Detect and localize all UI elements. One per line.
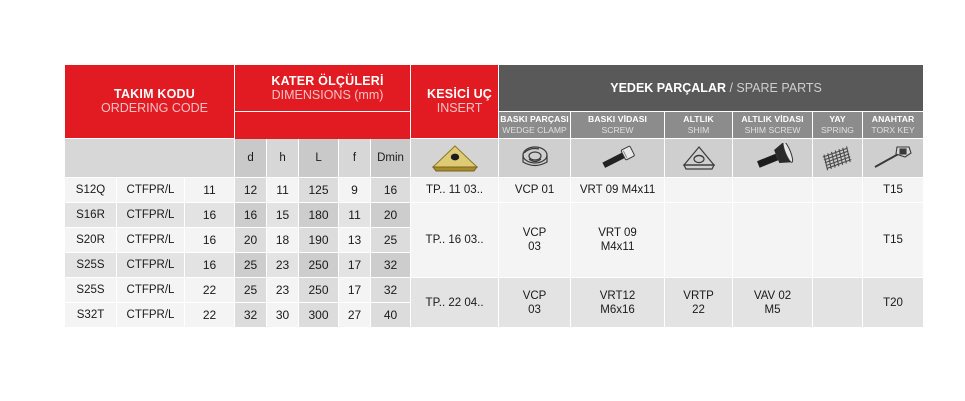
- cell-f: 13: [339, 228, 371, 253]
- cell-h: 15: [267, 203, 299, 228]
- spring-icon: [817, 144, 859, 172]
- cell-wedge-clamp: VCP03: [499, 203, 571, 278]
- cell-screw: VRT 09M4x11: [571, 203, 665, 278]
- shim-icon-cell: [665, 139, 733, 178]
- header-screw: BASKI VİDASI SCREW: [571, 112, 665, 139]
- cell-L: 125: [299, 178, 339, 203]
- torx-key-icon: [869, 143, 917, 173]
- cell-series: CTFPR/L: [117, 178, 185, 203]
- master-header-row: TAKIM KODU ORDERING CODE KATER ÖLÇÜLERİ …: [65, 65, 924, 112]
- screw-icon-cell: [571, 139, 665, 178]
- cell-series: CTFPR/L: [117, 228, 185, 253]
- header-shim: ALTLIK SHIM: [665, 112, 733, 139]
- cell-dmin: 20: [371, 203, 411, 228]
- cell-torx-key: T15: [863, 203, 924, 278]
- cell-dmin: 40: [371, 303, 411, 328]
- header-shim-en: SHIM: [666, 125, 731, 136]
- cell-size: 22: [185, 278, 235, 303]
- cell-dmin: 32: [371, 278, 411, 303]
- cell-d: 12: [235, 178, 267, 203]
- header-ordering-code-en: ORDERING CODE: [75, 101, 234, 116]
- cell-code: S16R: [65, 203, 117, 228]
- cell-series: CTFPR/L: [117, 203, 185, 228]
- ordering-code-spacer: [65, 139, 235, 178]
- header-spare-parts-en: SPARE PARTS: [736, 81, 821, 95]
- cell-insert: TP.. 11 03..: [411, 178, 499, 203]
- table-row: S16R CTFPR/L 16 16 15 180 11 20 TP.. 16 …: [65, 203, 924, 228]
- header-screw-en: SCREW: [572, 125, 663, 136]
- cell-shim-screw: VAV 02M5: [733, 278, 813, 328]
- header-wedge-clamp-en: WEDGE CLAMP: [500, 125, 569, 136]
- cell-spring: [813, 203, 863, 278]
- header-spare-parts: YEDEK PARÇALAR / SPARE PARTS: [499, 65, 924, 112]
- cell-d: 25: [235, 278, 267, 303]
- cell-spring: [813, 278, 863, 328]
- cell-shim-screw: [733, 178, 813, 203]
- header-spring: YAY SPRING: [813, 112, 863, 139]
- shim-icon: [679, 143, 719, 173]
- cell-size: 16: [185, 203, 235, 228]
- cell-code: S25S: [65, 278, 117, 303]
- dim-label-d: d: [235, 139, 267, 178]
- header-dimensions-filler: [235, 112, 411, 139]
- header-spring-tr: YAY: [814, 114, 861, 125]
- spring-icon-cell: [813, 139, 863, 178]
- catalog-page: TAKIM KODU ORDERING CODE KATER ÖLÇÜLERİ …: [0, 0, 965, 401]
- cell-dmin: 25: [371, 228, 411, 253]
- cell-wedge-clamp: VCP03: [499, 278, 571, 328]
- cell-f: 27: [339, 303, 371, 328]
- cell-insert: TP.. 22 04..: [411, 278, 499, 328]
- table-row: S12Q CTFPR/L 11 12 11 125 9 16 TP.. 11 0…: [65, 178, 924, 203]
- dim-label-f: f: [339, 139, 371, 178]
- header-spare-parts-tr: YEDEK PARÇALAR: [610, 81, 726, 95]
- cell-size: 16: [185, 253, 235, 278]
- cell-shim-screw: [733, 203, 813, 278]
- cell-d: 20: [235, 228, 267, 253]
- dimension-letter-row: d h L f Dmin: [65, 139, 924, 178]
- cell-torx-key: T20: [863, 278, 924, 328]
- header-ordering-code: TAKIM KODU ORDERING CODE: [65, 65, 235, 139]
- header-insert-en: INSERT: [421, 101, 498, 116]
- cell-series: CTFPR/L: [117, 253, 185, 278]
- cell-h: 11: [267, 178, 299, 203]
- header-dimensions-tr: KATER ÖLÇÜLERİ: [245, 74, 410, 88]
- cell-L: 300: [299, 303, 339, 328]
- wedge-clamp-icon: [515, 143, 555, 173]
- cell-L: 190: [299, 228, 339, 253]
- header-shim-screw: ALTLIK VİDASI SHIM SCREW: [733, 112, 813, 139]
- table-row: S25S CTFPR/L 22 25 23 250 17 32 TP.. 22 …: [65, 278, 924, 303]
- header-torx-key-tr: ANAHTAR: [864, 114, 922, 125]
- cell-code: S12Q: [65, 178, 117, 203]
- header-spring-en: SPRING: [814, 125, 861, 136]
- cell-f: 17: [339, 253, 371, 278]
- cell-h: 30: [267, 303, 299, 328]
- header-ordering-code-tr: TAKIM KODU: [75, 87, 234, 101]
- cell-series: CTFPR/L: [117, 278, 185, 303]
- screw-icon: [594, 143, 642, 173]
- cell-d: 32: [235, 303, 267, 328]
- header-shim-screw-en: SHIM SCREW: [734, 125, 811, 136]
- cell-f: 11: [339, 203, 371, 228]
- header-shim-tr: ALTLIK: [666, 114, 731, 125]
- torx-key-icon-cell: [863, 139, 924, 178]
- dim-label-h: h: [267, 139, 299, 178]
- cell-code: S20R: [65, 228, 117, 253]
- cell-shim: VRTP22: [665, 278, 733, 328]
- cell-h: 18: [267, 228, 299, 253]
- header-torx-key: ANAHTAR TORX KEY: [863, 112, 924, 139]
- header-torx-key-en: TORX KEY: [864, 125, 922, 136]
- shim-screw-icon: [749, 143, 797, 173]
- cell-insert: TP.. 16 03..: [411, 203, 499, 278]
- cell-series: CTFPR/L: [117, 303, 185, 328]
- cell-f: 9: [339, 178, 371, 203]
- cell-size: 11: [185, 178, 235, 203]
- cell-dmin: 16: [371, 178, 411, 203]
- header-wedge-clamp-tr: BASKI PARÇASI: [500, 114, 569, 125]
- cell-size: 16: [185, 228, 235, 253]
- cell-d: 16: [235, 203, 267, 228]
- insert-icon-cell: [411, 139, 499, 178]
- cell-d: 25: [235, 253, 267, 278]
- tool-specification-table: TAKIM KODU ORDERING CODE KATER ÖLÇÜLERİ …: [64, 64, 924, 328]
- triangular-insert-icon: [429, 143, 481, 173]
- cell-code: S25S: [65, 253, 117, 278]
- cell-size: 22: [185, 303, 235, 328]
- header-insert-tr: KESİCİ UÇ: [421, 87, 498, 101]
- cell-L: 250: [299, 278, 339, 303]
- dim-label-Dmin: Dmin: [371, 139, 411, 178]
- header-insert: KESİCİ UÇ INSERT: [411, 65, 499, 139]
- shim-screw-icon-cell: [733, 139, 813, 178]
- cell-torx-key: T15: [863, 178, 924, 203]
- header-spare-parts-sep: /: [726, 81, 736, 95]
- cell-shim: [665, 203, 733, 278]
- header-dimensions-en: DIMENSIONS (mm): [245, 88, 410, 103]
- cell-spring: [813, 178, 863, 203]
- wedge-clamp-icon-cell: [499, 139, 571, 178]
- header-shim-screw-tr: ALTLIK VİDASI: [734, 114, 811, 125]
- cell-L: 250: [299, 253, 339, 278]
- cell-screw: VRT12M6x16: [571, 278, 665, 328]
- cell-h: 23: [267, 253, 299, 278]
- header-dimensions: KATER ÖLÇÜLERİ DIMENSIONS (mm): [235, 65, 411, 112]
- cell-dmin: 32: [371, 253, 411, 278]
- header-wedge-clamp: BASKI PARÇASI WEDGE CLAMP: [499, 112, 571, 139]
- cell-shim: [665, 178, 733, 203]
- cell-f: 17: [339, 278, 371, 303]
- header-screw-tr: BASKI VİDASI: [572, 114, 663, 125]
- cell-wedge-clamp: VCP 01: [499, 178, 571, 203]
- cell-L: 180: [299, 203, 339, 228]
- dim-label-L: L: [299, 139, 339, 178]
- cell-h: 23: [267, 278, 299, 303]
- cell-code: S32T: [65, 303, 117, 328]
- cell-screw: VRT 09 M4x11: [571, 178, 665, 203]
